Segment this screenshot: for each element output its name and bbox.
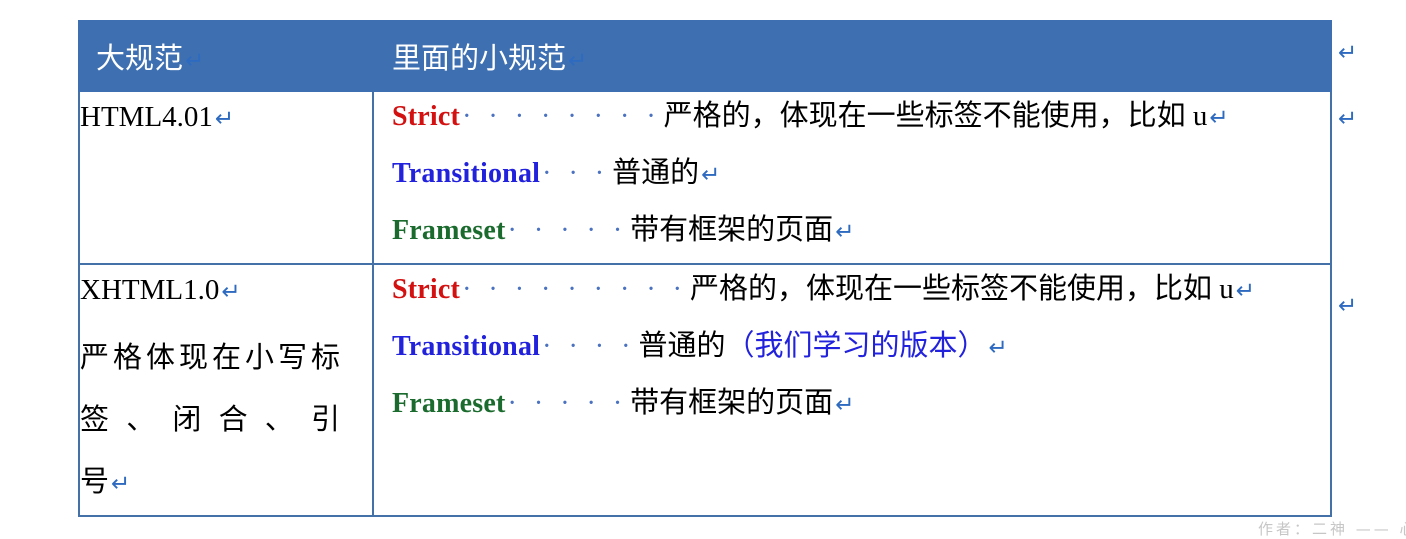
sub-spec-keyword-transitional: Transitional (392, 158, 540, 189)
sub-spec-description: 带有框架的页面 (630, 214, 833, 246)
table-header-row: 大规范↵ 里面的小规范↵ (79, 21, 1331, 91)
return-mark-icon: ↵ (986, 335, 1007, 361)
table-row: XHTML1.0↵ 严格体现在小写标签、闭合、引 号↵ Strict· · · … (79, 264, 1331, 516)
sub-spec-description: 带有框架的页面 (630, 387, 833, 419)
return-mark-icon: ↵ (699, 162, 720, 188)
return-mark-icon: ↵ (213, 106, 234, 132)
spec-table: 大规范↵ 里面的小规范↵ HTML4.01↵ Strict· · · · · ·… (78, 20, 1332, 517)
dot-leader: · · · · · (506, 215, 631, 246)
page-watermark: 作者：二神 —— 心 — (1258, 518, 1406, 539)
return-mark-icon: ↵ (1338, 42, 1357, 65)
sub-spec-keyword-frameset: Frameset (392, 388, 506, 419)
sub-spec-description: 严格的，体现在一些标签不能使用，比如 u (690, 273, 1234, 305)
dot-leader: · · · · · · · · (460, 101, 664, 132)
sub-spec-description: 普通的 (638, 330, 725, 362)
dot-leader: · · · (540, 158, 612, 189)
sub-spec-description-highlight: （我们学习的版本） (725, 330, 986, 362)
spec-name-line: HTML4.01↵ (80, 92, 372, 154)
return-mark-icon: ↵ (833, 219, 854, 245)
sub-spec-entry-transitional: Transitional· · ·普通的↵ (392, 149, 1324, 206)
spec-name-line: XHTML1.0↵ (80, 265, 372, 327)
return-mark-icon: ↵ (219, 279, 240, 305)
sub-spec-entry-strict: Strict· · · · · · · · ·严格的，体现在一些标签不能使用，比… (392, 265, 1324, 322)
cell-spec-name-xhtml10: XHTML1.0↵ 严格体现在小写标签、闭合、引 号↵ (79, 264, 373, 516)
header-cell-small-spec: 里面的小规范↵ (373, 21, 1331, 91)
spec-note-line-2: 号↵ (80, 451, 340, 515)
spec-note-line-1: 严格体现在小写标签、闭合、引 (80, 327, 340, 451)
header-label-small-spec: 里面的小规范 (392, 43, 566, 75)
dot-leader: · · · · · (506, 388, 631, 419)
return-mark-icon: ↵ (1234, 278, 1255, 304)
sub-spec-entry-transitional: Transitional· · · ·普通的（我们学习的版本）↵ (392, 322, 1324, 379)
cell-sub-specs-xhtml10: Strict· · · · · · · · ·严格的，体现在一些标签不能使用，比… (373, 264, 1331, 516)
return-mark-icon: ↵ (1338, 295, 1357, 318)
spec-name-text: HTML4.01 (80, 101, 213, 133)
document-page: · · · · · · · · · · · · · · · · · · · 大规… (0, 0, 1406, 530)
sub-spec-description: 严格的，体现在一些标签不能使用，比如 u (664, 100, 1208, 132)
sub-spec-keyword-transitional: Transitional (392, 331, 540, 362)
return-mark-icon: ↵ (183, 48, 204, 74)
sub-spec-entry-strict: Strict· · · · · · · ·严格的，体现在一些标签不能使用，比如 … (392, 92, 1324, 149)
spec-name-text: XHTML1.0 (80, 274, 219, 306)
return-mark-icon: ↵ (566, 48, 587, 74)
header-label-big-spec: 大规范 (96, 43, 183, 75)
cell-sub-specs-html401: Strict· · · · · · · ·严格的，体现在一些标签不能使用，比如 … (373, 91, 1331, 264)
table-row: HTML4.01↵ Strict· · · · · · · ·严格的，体现在一些… (79, 91, 1331, 264)
sub-spec-entry-frameset: Frameset· · · · ·带有框架的页面↵ (392, 206, 1324, 263)
return-mark-icon: ↵ (109, 471, 130, 497)
sub-spec-keyword-frameset: Frameset (392, 215, 506, 246)
sub-spec-entry-frameset: Frameset· · · · ·带有框架的页面↵ (392, 379, 1324, 436)
dot-leader: · · · · · · · · · (460, 274, 690, 305)
return-mark-icon: ↵ (1338, 108, 1357, 131)
sub-spec-description: 普通的 (612, 157, 699, 189)
header-cell-big-spec: 大规范↵ (79, 21, 373, 91)
cell-spec-name-html401: HTML4.01↵ (79, 91, 373, 264)
clipped-text-above-table: · · · · · · · · · · · · · · · · · · · (230, 0, 1380, 6)
sub-spec-keyword-strict: Strict (392, 101, 460, 132)
return-mark-icon: ↵ (833, 392, 854, 418)
return-mark-icon: ↵ (1207, 105, 1228, 131)
spec-note-text: 号 (80, 466, 109, 498)
dot-leader: · · · · (540, 331, 638, 362)
sub-spec-keyword-strict: Strict (392, 274, 460, 305)
